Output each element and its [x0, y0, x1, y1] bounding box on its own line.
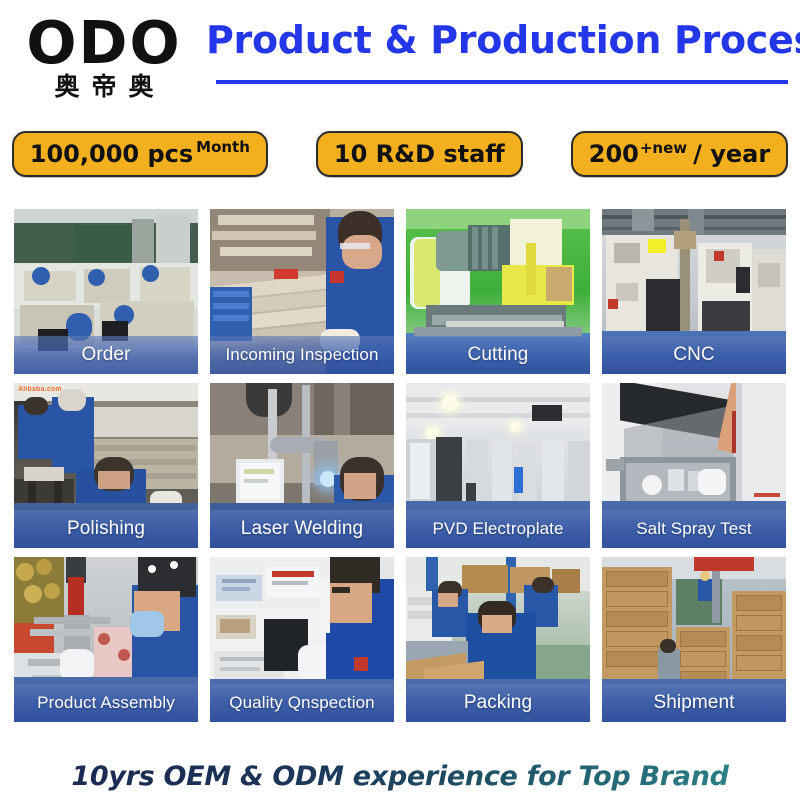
tile-label: Laser Welding — [241, 518, 363, 540]
process-tile-pvd-electroplate[interactable]: PVD Electroplate — [406, 383, 590, 548]
process-tile-shipment[interactable]: Shipment — [602, 557, 786, 722]
process-tile-incoming-inspection[interactable]: Incoming Inspection — [210, 209, 394, 374]
badge-new-models-tail: / year — [693, 140, 770, 168]
tile-label: Order — [81, 344, 130, 366]
tile-caption: Polishing — [14, 510, 198, 548]
badge-rd-staff: 10 R&D staff — [316, 131, 523, 177]
tile-label: Incoming Inspection — [225, 345, 378, 365]
process-grid: Order — [14, 209, 786, 749]
tile-label: PVD Electroplate — [432, 519, 563, 539]
tile-caption: Quality Qnspection — [210, 684, 394, 722]
badge-capacity-sup: Month — [196, 138, 250, 156]
tile-label: Quality Qnspection — [229, 693, 374, 713]
process-tile-polishing[interactable]: Alibaba.com Polishing — [14, 383, 198, 548]
tile-caption: Laser Welding — [210, 510, 394, 548]
logo-chinese-name: 奥帝奥 — [42, 73, 165, 102]
company-logo: ODO 奥帝奥 — [14, 12, 194, 104]
tile-label: Polishing — [67, 518, 145, 540]
alibaba-watermark: Alibaba.com — [18, 386, 62, 393]
tile-caption: CNC — [602, 336, 786, 374]
process-tile-cnc[interactable]: CNC — [602, 209, 786, 374]
title-underline-rule — [216, 80, 788, 84]
stats-badge-row: 100,000 pcsMonth 10 R&D staff 200+new/ y… — [0, 126, 800, 182]
badge-new-models-value: 200 — [589, 140, 639, 168]
process-tile-packing[interactable]: Packing — [406, 557, 590, 722]
process-tile-product-assembly[interactable]: Product Assembly — [14, 557, 198, 722]
page-title: Product & Production Process — [206, 18, 790, 64]
process-tile-quality-inspection[interactable]: Quality Qnspection — [210, 557, 394, 722]
process-tile-salt-spray-test[interactable]: Salt Spray Test — [602, 383, 786, 548]
tile-caption: Cutting — [406, 336, 590, 374]
tile-label: Product Assembly — [37, 693, 175, 713]
header: ODO 奥帝奥 Product & Production Process — [0, 0, 800, 110]
badge-capacity: 100,000 pcsMonth — [12, 131, 268, 177]
tile-caption: Order — [14, 336, 198, 374]
footer-tagline: 10yrs OEM & ODM experience for Top Brand — [71, 761, 728, 792]
tile-caption: Packing — [406, 684, 590, 722]
tile-caption: Product Assembly — [14, 684, 198, 722]
tile-label: Salt Spray Test — [636, 519, 752, 539]
badge-new-models-sup: +new — [640, 139, 687, 157]
tile-caption: Shipment — [602, 684, 786, 722]
badge-new-models: 200+new/ year — [571, 131, 788, 177]
tile-caption: Salt Spray Test — [602, 510, 786, 548]
logo-wordmark: ODO — [26, 14, 181, 72]
process-tile-laser-welding[interactable]: Laser Welding — [210, 383, 394, 548]
tile-label: Shipment — [653, 692, 734, 714]
title-block: Product & Production Process — [206, 18, 790, 104]
process-tile-cutting[interactable]: Cutting — [406, 209, 590, 374]
badge-rd-staff-value: 10 R&D staff — [334, 140, 505, 168]
footer: 10yrs OEM & ODM experience for Top Brand — [0, 752, 800, 800]
poster-canvas: ODO 奥帝奥 Product & Production Process 100… — [0, 0, 800, 800]
process-tile-order[interactable]: Order — [14, 209, 198, 374]
tile-caption: Incoming Inspection — [210, 336, 394, 374]
tile-label: Packing — [464, 692, 532, 714]
tile-label: CNC — [673, 344, 714, 366]
tile-caption: PVD Electroplate — [406, 510, 590, 548]
badge-capacity-value: 100,000 pcs — [30, 140, 193, 168]
tile-label: Cutting — [468, 344, 529, 366]
